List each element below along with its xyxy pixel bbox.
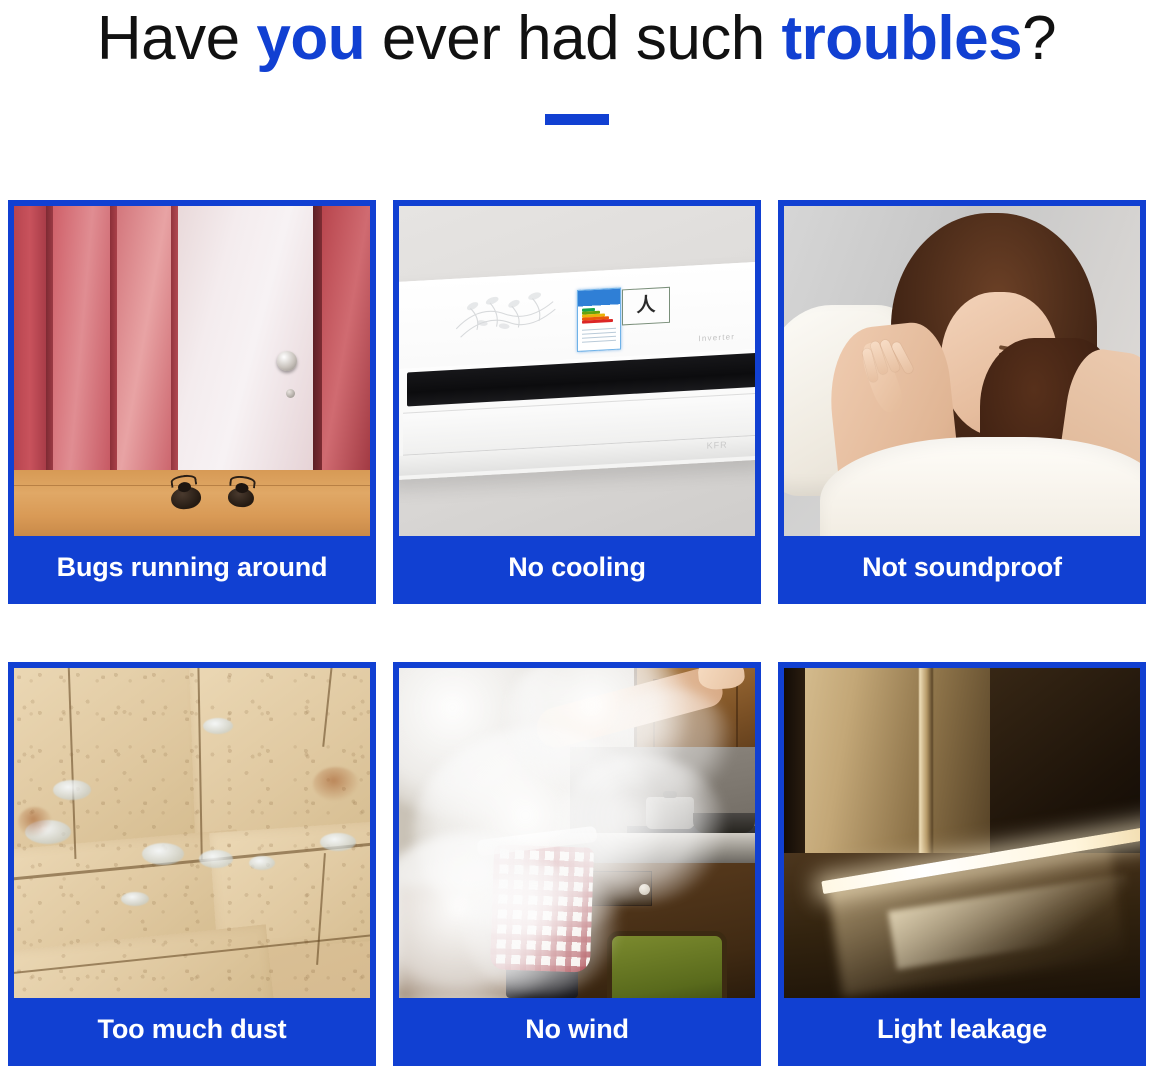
stain-mark — [18, 807, 52, 837]
smoke-cloud — [605, 688, 735, 798]
trouble-card[interactable]: Too much dust — [8, 662, 376, 1066]
headline-part-1: Have — [97, 4, 256, 73]
trouble-card[interactable]: Light leakage — [778, 662, 1146, 1066]
door-panel — [322, 206, 370, 470]
energy-rating-bars — [582, 307, 616, 324]
dusty-floor-photo — [14, 668, 370, 998]
energy-label-sticker — [577, 287, 621, 351]
card-caption: No cooling — [399, 536, 755, 598]
smoke-cloud — [463, 866, 623, 996]
door-with-bugs-photo — [14, 206, 370, 536]
trouble-card[interactable]: 人 Inverter KFR No cooling — [393, 200, 761, 604]
trouble-card[interactable]: Not soundproof — [778, 200, 1146, 604]
door-panel-lit — [178, 206, 313, 470]
door-panel — [53, 206, 110, 470]
smoky-kitchen-photo — [399, 668, 755, 998]
woman-covering-ears-photo — [784, 206, 1140, 536]
headline-question-mark: ? — [1022, 4, 1056, 73]
door-panel — [171, 206, 178, 470]
floral-decal-icon — [426, 283, 584, 357]
sticker-text-lines — [582, 328, 616, 345]
light-under-door-photo — [784, 668, 1140, 998]
door-panel — [46, 206, 53, 470]
trouble-card[interactable]: Bugs running around — [8, 200, 376, 604]
headline-part-2: ever had such — [365, 4, 781, 73]
page-title: Have you ever had such troubles? — [0, 2, 1153, 78]
card-caption: Too much dust — [14, 998, 370, 1060]
green-chair — [607, 931, 727, 998]
door-panel — [14, 206, 46, 470]
card-caption: Not soundproof — [784, 536, 1140, 598]
dust-clump — [142, 843, 184, 865]
headline-accent-you: you — [256, 4, 365, 73]
ac-model-code: KFR — [707, 440, 728, 451]
trouble-card-grid: Bugs running around — [8, 200, 1146, 1066]
air-conditioner-photo: 人 Inverter KFR — [399, 206, 755, 536]
dust-clump — [320, 833, 356, 851]
promo-page: Have you ever had such troubles? — [0, 0, 1153, 1068]
card-caption: Light leakage — [784, 998, 1140, 1060]
certification-mark: 人 — [637, 296, 656, 316]
trouble-card[interactable]: No wind — [393, 662, 761, 1066]
stain-mark — [313, 767, 359, 801]
certification-sticker: 人 — [622, 287, 670, 326]
dust-clump — [203, 718, 233, 734]
headline-accent-troubles: troubles — [782, 4, 1023, 73]
card-caption: No wind — [399, 998, 755, 1060]
blue-underline-bar — [545, 114, 609, 125]
door-panel — [110, 206, 117, 470]
dust-clump — [249, 856, 275, 870]
door-panel — [117, 206, 170, 470]
card-caption: Bugs running around — [14, 536, 370, 598]
ac-unit-body: 人 Inverter KFR — [399, 261, 755, 480]
dust-clump — [199, 850, 233, 868]
door-panel — [313, 206, 322, 470]
divider-container — [0, 112, 1153, 126]
left-hand — [857, 338, 907, 415]
